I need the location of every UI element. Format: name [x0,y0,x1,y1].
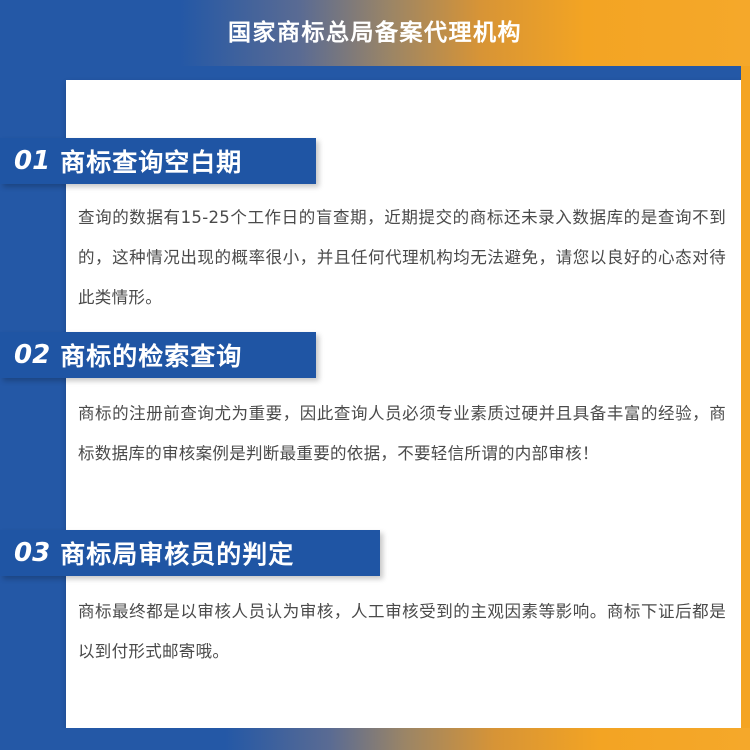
section-heading-03: 商标局审核员的判定 [60,535,294,571]
section-body-01: 查询的数据有15-25个工作日的盲查期，近期提交的商标还未录入数据库的是查询不到… [78,198,726,318]
section-number-02: 02 [14,340,50,370]
section-banner-01: 01 商标查询空白期 [0,138,316,184]
section-number-01: 01 [14,146,50,176]
infographic-page: 国家商标总局备案代理机构 01 商标查询空白期 查询的数据有15-25个工作日的… [0,0,750,750]
right-accent-strip [741,66,750,728]
section-banner-02: 02 商标的检索查询 [0,332,316,378]
section-number-03: 03 [14,538,50,568]
section-body-02: 商标的注册前查询尤为重要，因此查询人员必须专业素质过硬并且具备丰富的经验，商标数… [78,394,726,474]
section-banner-03: 03 商标局审核员的判定 [0,530,380,576]
footer-gradient-bar [0,728,750,750]
section-heading-01: 商标查询空白期 [60,143,242,179]
page-title: 国家商标总局备案代理机构 [0,0,750,66]
section-body-03: 商标最终都是以审核人员认为审核，人工审核受到的主观因素等影响。商标下证后都是以到… [78,592,726,672]
section-heading-02: 商标的检索查询 [60,337,242,373]
